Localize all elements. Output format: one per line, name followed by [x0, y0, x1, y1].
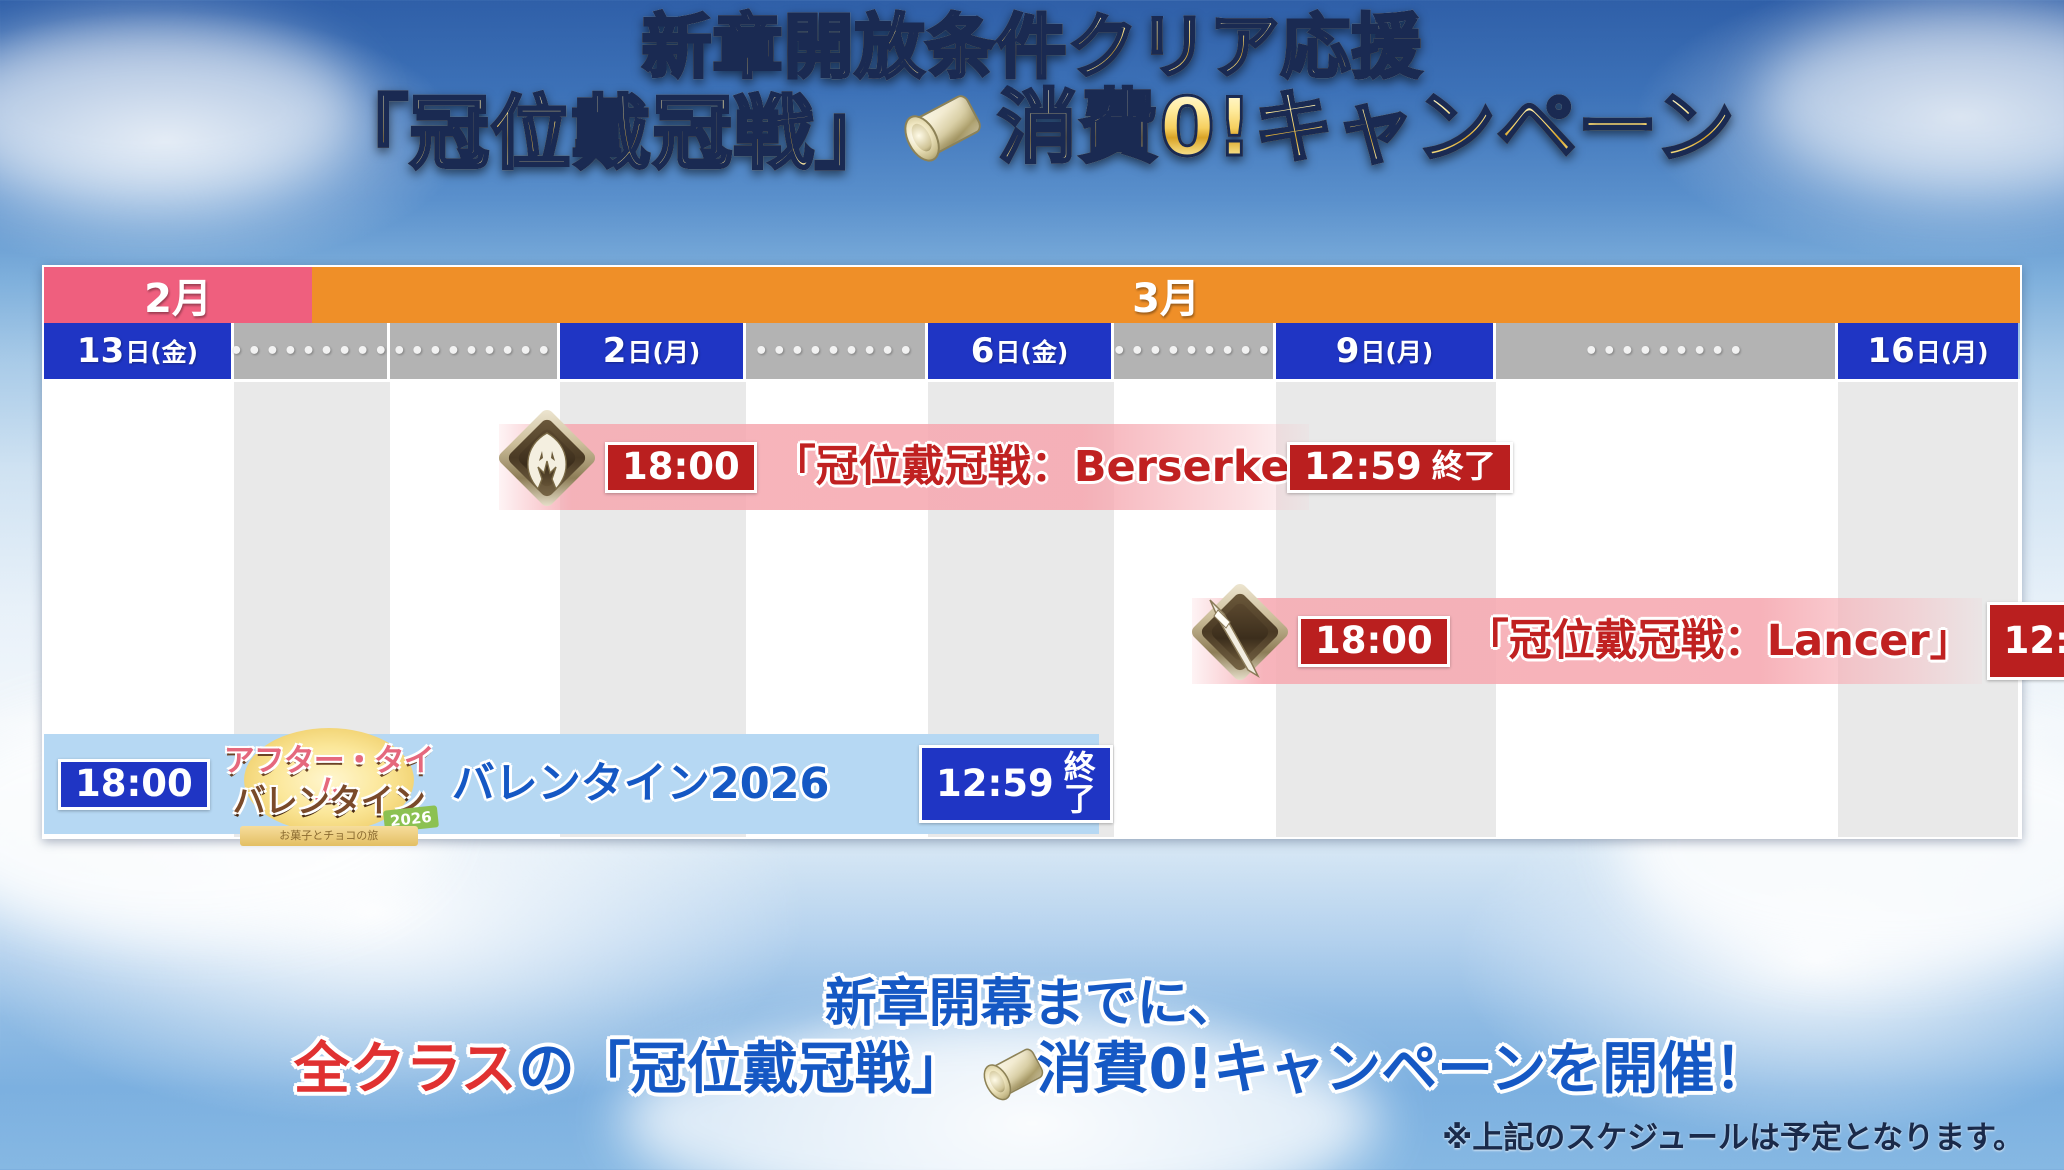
lancer-class-icon	[1192, 582, 1288, 694]
end-time-badge-valentine: 12:59 終了	[919, 745, 1113, 823]
date-num-9: 9	[1336, 331, 1360, 371]
date-num-16: 16	[1867, 331, 1914, 371]
footer-line-2-row: 全クラス の「冠位戴冠戦」 消費0!キャンペーンを開催！	[0, 1039, 2064, 1102]
month-label-march: 3月	[1132, 266, 1200, 324]
date-suffix-13: 日(金)	[125, 333, 198, 369]
start-time-text-lancer: 18:00	[1315, 622, 1433, 659]
date-dots-4: •••••••••	[1112, 339, 1275, 364]
calendar-body: 18:00 「冠位戴冠戦：Berserker」 12:59 終了	[42, 379, 2022, 839]
date-cell-gap-2: •••••••••	[390, 323, 560, 379]
date-cell-feb-13[interactable]: 13日(金)	[44, 323, 234, 379]
date-num-13: 13	[77, 331, 124, 371]
date-dots-3: •••••••••	[754, 339, 917, 364]
date-cell-mar-6[interactable]: 6日(金)	[928, 323, 1114, 379]
event-row-lancer[interactable]: 18:00 「冠位戴冠戦：Lancer」 12:59 終了	[1192, 598, 1982, 684]
berserker-class-icon	[499, 408, 595, 520]
title-line-1: 新章開放条件クリア応援	[0, 4, 2064, 82]
event-title-lancer: 「冠位戴冠戦：Lancer」	[1466, 620, 1973, 663]
date-cell-gap-5: •••••••••	[1496, 323, 1838, 379]
title-line-2-pre: 「冠位戴冠戦」	[328, 82, 895, 174]
date-num-2: 2	[603, 331, 627, 371]
calendar-month-header: 2月 3月	[42, 265, 2022, 323]
date-suffix-16: 日(月)	[1916, 333, 1989, 369]
page-title: 新章開放条件クリア応援 「冠位戴冠戦」 消費0!キャンペーン	[0, 4, 2064, 174]
event-title-valentine: バレンタイン2026	[452, 763, 830, 806]
schedule-calendar: 2月 3月 13日(金) ••••••••• ••••••••• 2日(月) •…	[42, 265, 2022, 839]
golden-apple-icon	[888, 72, 1004, 183]
event-row-berserker[interactable]: 18:00 「冠位戴冠戦：Berserker」 12:59 終了	[499, 424, 1979, 510]
month-cell-february: 2月	[44, 267, 312, 323]
golden-apple-icon-footer	[970, 1041, 1032, 1101]
start-time-badge-berserker: 18:00	[605, 442, 757, 493]
start-time-text-valentine: 18:00	[75, 765, 193, 802]
event-title-berserker: 「冠位戴冠戦：Berserker」	[773, 446, 1354, 489]
month-label-february: 2月	[144, 266, 212, 324]
event-row-valentine[interactable]: 18:00 アフター・タイム バレンタイン 2026 お菓子とチョコの旅 バレン…	[44, 734, 1104, 834]
footer-line-2-mid: の「冠位戴冠戦」	[519, 1039, 967, 1102]
date-dots-1: •••••••••	[229, 339, 392, 364]
date-suffix-2: 日(月)	[627, 333, 700, 369]
end-time-text-lancer: 12:59	[2004, 622, 2064, 659]
date-cell-mar-2[interactable]: 2日(月)	[560, 323, 746, 379]
date-suffix-9: 日(月)	[1360, 333, 1433, 369]
date-cell-gap-3: •••••••••	[746, 323, 928, 379]
footer-line-2-highlight: 全クラス	[294, 1039, 517, 1102]
start-time-badge-lancer: 18:00	[1298, 616, 1450, 667]
month-cell-march: 3月	[312, 267, 2020, 323]
end-time-text-valentine: 12:59	[936, 765, 1054, 802]
end-label-berserker: 終了	[1432, 450, 1496, 482]
date-suffix-6: 日(金)	[995, 333, 1068, 369]
date-cell-mar-16[interactable]: 16日(月)	[1838, 323, 2018, 379]
valentine-logo-icon: アフター・タイム バレンタイン 2026 お菓子とチョコの旅	[214, 722, 444, 846]
end-label-valentine: 終了	[1064, 751, 1096, 815]
start-time-text-berserker: 18:00	[622, 448, 740, 485]
date-cell-gap-4: •••••••••	[1114, 323, 1276, 379]
end-time-text-berserker: 12:59	[1304, 448, 1422, 485]
footer-line-2-tail: 消費0!キャンペーンを開催！	[1037, 1039, 1771, 1102]
date-cell-mar-9[interactable]: 9日(月)	[1276, 323, 1496, 379]
date-dots-2: •••••••••	[392, 339, 555, 364]
date-cell-gap-1: •••••••••	[234, 323, 390, 379]
calendar-date-header: 13日(金) ••••••••• ••••••••• 2日(月) •••••••…	[42, 323, 2022, 379]
start-time-badge-valentine: 18:00	[58, 759, 210, 810]
date-dots-5: •••••••••	[1584, 339, 1747, 364]
valentine-logo-ribbon: お菓子とチョコの旅	[240, 826, 418, 846]
schedule-disclaimer-note: ※上記のスケジュールは予定となります。	[1442, 1112, 2024, 1157]
end-time-badge-lancer: 12:59 終了	[1987, 602, 2064, 680]
title-line-2-post: 消費0!キャンペーン	[997, 88, 1735, 168]
date-num-6: 6	[971, 331, 995, 371]
end-time-badge-berserker: 12:59 終了	[1287, 442, 1513, 493]
footer-message: 新章開幕までに、 全クラス の「冠位戴冠戦」 消費0!キャンペーンを開催！	[0, 975, 2064, 1102]
title-line-2-row: 「冠位戴冠戦」 消費0!キャンペーン	[0, 82, 2064, 174]
footer-line-1: 新章開幕までに、	[0, 975, 2064, 1033]
